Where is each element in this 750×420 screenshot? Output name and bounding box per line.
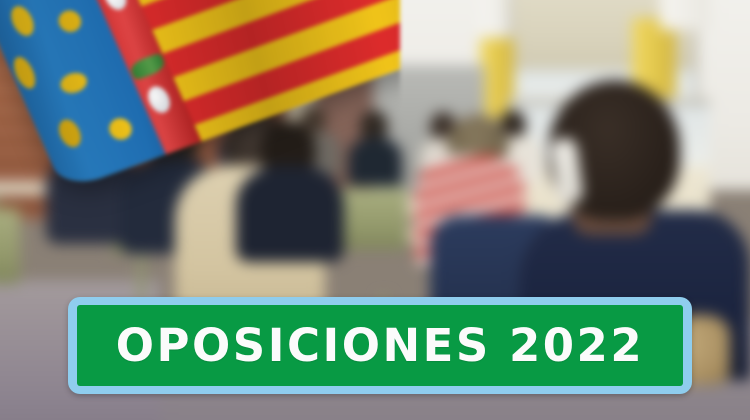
- banner-title-text: OPOSICIONES 2022: [116, 323, 644, 368]
- valencian-flag: [0, 0, 400, 260]
- flag-fold-shading: [0, 0, 400, 191]
- window-pillar-white-right: [660, 0, 710, 30]
- valencian-flag-cloth: [0, 0, 400, 191]
- title-banner: OPOSICIONES 2022: [68, 297, 692, 394]
- screenshot-root: OPOSICIONES 2022: [0, 0, 750, 420]
- title-banner-inner: OPOSICIONES 2022: [77, 305, 683, 386]
